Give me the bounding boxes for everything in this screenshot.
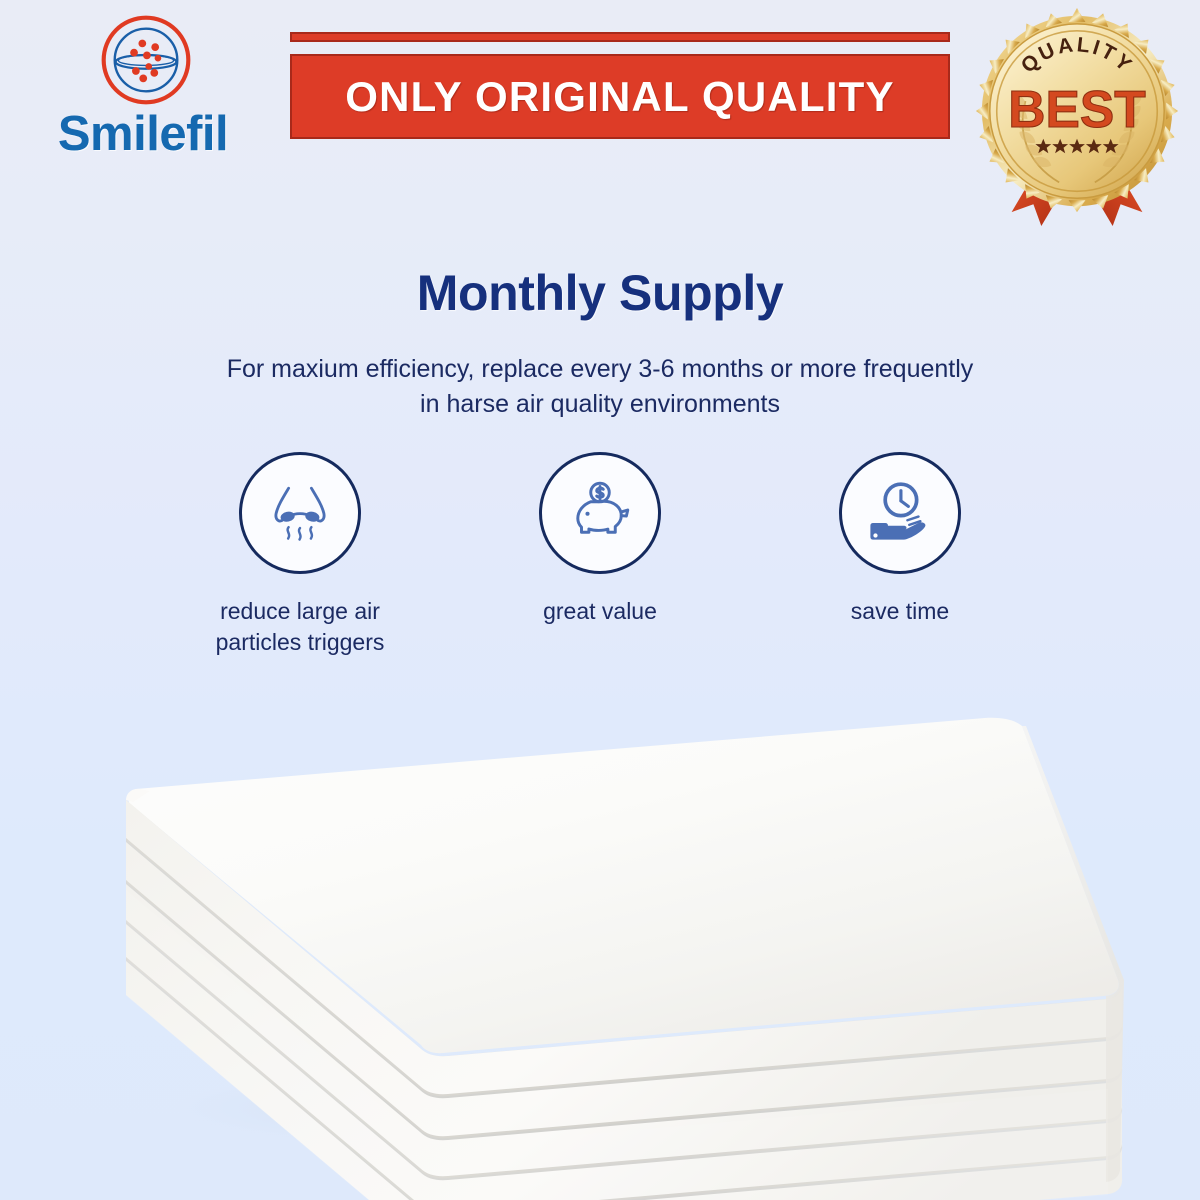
promo-banner: ONLY ORIGINAL QUALITY [288, 28, 960, 168]
filter-particles-circle-icon [100, 14, 192, 106]
banner-text: ONLY ORIGINAL QUALITY [345, 73, 894, 121]
banner-body: ONLY ORIGINAL QUALITY [290, 54, 950, 139]
header: Smilefil ONLY ORIGINAL QUALITY [0, 0, 1200, 230]
page-title: Monthly Supply [0, 264, 1200, 322]
brand-logo: Smilefil [18, 14, 268, 184]
feature-list: reduce large air particles triggers [150, 452, 1050, 682]
feature-label: reduce large air particles triggers [216, 596, 385, 657]
product-marketing-page: Smilefil ONLY ORIGINAL QUALITY [0, 0, 1200, 1200]
feature-label: great value [543, 596, 657, 627]
feature-icon-wrapper [239, 452, 361, 574]
piggy-bank-coin-icon [563, 474, 637, 553]
page-subtitle: For maxium efficiency, replace every 3-6… [200, 352, 1000, 422]
best-quality-seal-icon: QUALITY BEST [968, 6, 1186, 228]
feature-label: save time [851, 596, 949, 627]
stacked-filter-pads-image [0, 690, 1200, 1200]
feature-item-save-time: save time [750, 452, 1050, 682]
feature-item-reduce-particles: reduce large air particles triggers [150, 452, 450, 682]
banner-accent-bar [290, 32, 950, 42]
feature-icon-wrapper [839, 452, 961, 574]
brand-wordmark: Smilefil [18, 110, 268, 159]
subtitle-line-2: in harse air quality environments [420, 390, 780, 418]
badge-main-text: BEST [1008, 80, 1145, 138]
nose-breathing-icon [262, 473, 338, 554]
feature-item-great-value: great value [450, 452, 750, 682]
hand-holding-clock-icon [863, 474, 937, 553]
subtitle-line-1: For maxium efficiency, replace every 3-6… [227, 355, 974, 383]
feature-icon-wrapper [539, 452, 661, 574]
